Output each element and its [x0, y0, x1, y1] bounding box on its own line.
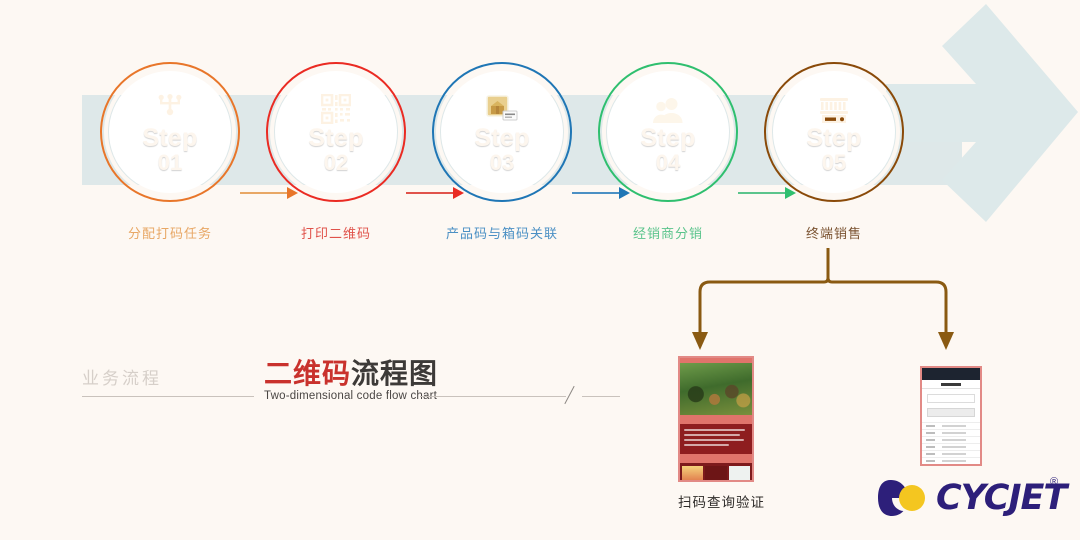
step-04[interactable]: Step 04 经销商分销	[594, 62, 742, 242]
table-row	[922, 422, 980, 429]
step-01-label: 分配打码任务	[96, 223, 244, 242]
title-rule-slash	[564, 386, 574, 404]
step-01-word: Step	[142, 126, 197, 152]
step-04-circle[interactable]: Step 04	[598, 62, 738, 202]
card-1	[682, 466, 703, 482]
step-04-number: 04	[656, 151, 680, 174]
title-rule-tail	[582, 396, 620, 397]
card-3	[729, 466, 750, 482]
table-row	[922, 443, 980, 450]
step-02-disc: Step 02	[275, 71, 397, 193]
step-03-disc: Step 03	[441, 71, 563, 193]
branch-connector	[640, 248, 1000, 358]
card-2	[705, 466, 726, 482]
step-02-label: 打印二维码	[262, 223, 410, 242]
description-block	[680, 424, 752, 454]
step-01-circle[interactable]: Step 01	[100, 62, 240, 202]
query-tab-bar	[922, 380, 980, 389]
section-bar-1	[680, 415, 752, 424]
step-02-circle[interactable]: Step 02	[266, 62, 406, 202]
title-rule-left	[82, 396, 254, 397]
registered-mark: ®	[1050, 476, 1058, 488]
table-row	[922, 429, 980, 436]
card-row	[680, 463, 752, 482]
step-03-label: 产品码与箱码关联	[428, 223, 576, 242]
step-03[interactable]: Step 03 产品码与箱码关联	[428, 62, 576, 242]
connector-arrow-3	[572, 187, 630, 199]
step-05-disc: Step 05	[773, 71, 895, 193]
query-submit-button[interactable]	[927, 408, 975, 417]
connector-arrow-1	[240, 187, 298, 199]
step-01-number: 01	[158, 151, 182, 174]
product-photo	[680, 363, 752, 415]
slide-canvas: Step 01 分配打码任务	[0, 0, 1080, 540]
step-03-word: Step	[474, 126, 529, 152]
section-bar-2	[680, 454, 752, 463]
logo-wordmark: CYCJET	[936, 478, 1066, 518]
step-05-circle[interactable]: Step 05	[764, 62, 904, 202]
phone-left-caption: 扫码查询验证	[678, 491, 765, 511]
table-row	[922, 450, 980, 457]
query-result-table	[922, 422, 980, 464]
table-row	[922, 436, 980, 443]
title-rest: 流程图	[351, 358, 438, 389]
hierarchy-icon	[155, 90, 185, 124]
logo-mark-icon	[878, 474, 934, 522]
table-row	[922, 457, 980, 464]
qrcode-icon	[321, 90, 351, 124]
title-subtitle: Two-dimensional code flow chart	[264, 390, 437, 402]
step-01[interactable]: Step 01 分配打码任务	[96, 62, 244, 242]
step-01-disc: Step 01	[109, 71, 231, 193]
phone-screen-trace	[678, 356, 754, 482]
package-label-icon	[485, 90, 519, 124]
phone-mockup-right	[920, 366, 982, 475]
phone-mockup-left: 扫码查询验证	[678, 356, 765, 511]
title-highlight: 二维码	[264, 358, 351, 389]
step-05-number: 05	[822, 151, 846, 174]
step-flow: Step 01 分配打码任务	[0, 62, 1080, 262]
connector-arrow-4	[738, 187, 796, 199]
step-05-label: 终端销售	[760, 223, 908, 242]
step-05[interactable]: Step 05 终端销售	[760, 62, 908, 242]
step-03-number: 03	[490, 151, 514, 174]
step-02-word: Step	[308, 126, 363, 152]
title-side-label: 业务流程	[82, 364, 162, 389]
title-rule-right	[420, 396, 566, 397]
step-02-number: 02	[324, 151, 348, 174]
query-input-field[interactable]	[927, 394, 975, 403]
step-03-circle[interactable]: Step 03	[432, 62, 572, 202]
step-04-disc: Step 04	[607, 71, 729, 193]
connector-arrow-2	[406, 187, 464, 199]
step-02[interactable]: Step 02 打印二维码	[262, 62, 410, 242]
step-04-word: Step	[640, 126, 695, 152]
users-icon	[652, 90, 684, 124]
storefront-icon	[818, 90, 850, 124]
step-04-label: 经销商分销	[594, 223, 742, 242]
cycjet-logo: CYCJET ®	[878, 474, 1074, 526]
phone-screen-query	[920, 366, 982, 466]
step-05-word: Step	[806, 126, 861, 152]
page-title: 二维码流程图	[264, 352, 438, 392]
query-header-bar	[922, 368, 980, 380]
